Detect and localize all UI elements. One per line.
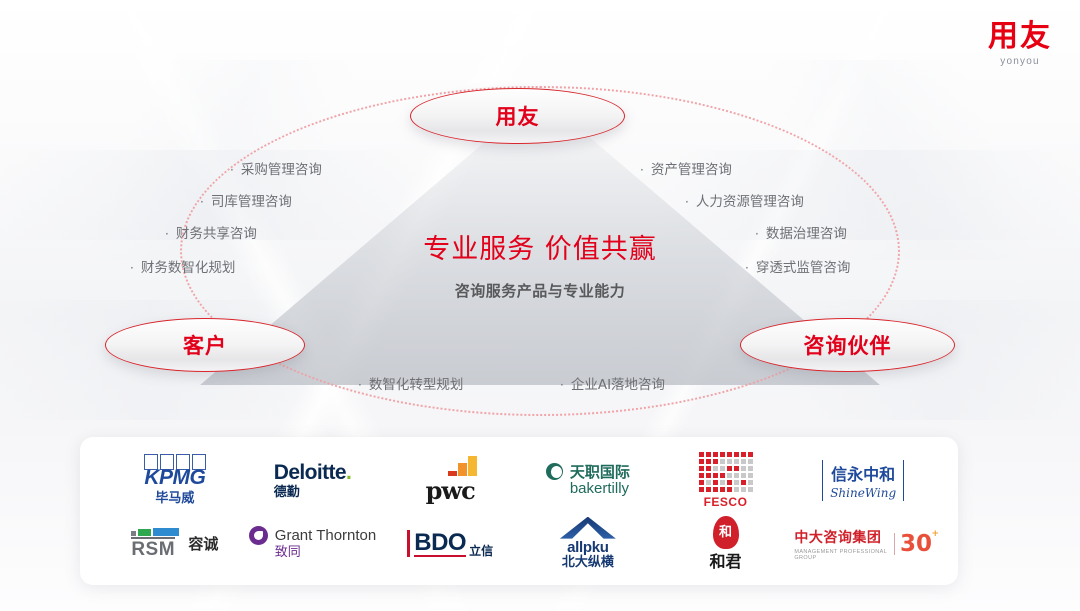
bullet-right-2-label: 人力资源管理咨询 — [696, 194, 804, 210]
bullet-bottom-2-label: 企业AI落地咨询 — [571, 377, 665, 393]
bdo-wordmark: BDO — [414, 530, 466, 557]
kpmg-cn-label: 毕马威 — [155, 492, 194, 506]
node-consulting-partner[interactable]: 咨询伙伴 — [740, 318, 955, 372]
grant-thornton-wordmark: Grant Thornton — [275, 528, 376, 545]
bdo-cn-label: 立信 — [469, 545, 493, 558]
pwc-wordmark: pwc — [426, 478, 475, 504]
hejun-seal-icon: 和 — [713, 516, 739, 549]
bullet-marker-icon: · — [230, 163, 234, 177]
partner-logo-rsm[interactable]: RSM 容诚 — [106, 527, 244, 561]
node-consulting-partner-label: 咨询伙伴 — [804, 330, 892, 360]
shinewing-cn-label: 信永中和 — [830, 461, 896, 485]
allpku-cn-label: 北大纵横 — [562, 556, 614, 570]
fesco-grid-icon — [699, 452, 753, 492]
partner-logo-bdo[interactable]: BDO 立信 — [381, 530, 519, 557]
zhongda-anniversary-badge: 30+ — [900, 531, 932, 557]
partner-logo-kpmg[interactable]: KPMG 毕马威 — [106, 454, 244, 506]
bullet-right-2: ·人力资源管理咨询 — [685, 190, 804, 210]
node-yonyou[interactable]: 用友 — [410, 88, 625, 144]
bullet-marker-icon: · — [358, 378, 362, 392]
center-message: 专业服务 价值共赢 咨询服务产品与专业能力 — [340, 227, 740, 301]
partner-logo-fesco[interactable]: FESCO — [657, 452, 795, 509]
rsm-cn-label: 容诚 — [188, 533, 218, 554]
bullet-marker-icon: · — [200, 195, 204, 209]
grant-thornton-mark-icon — [249, 526, 268, 545]
zhongda-anniversary-number: 30 — [900, 531, 932, 557]
node-customer[interactable]: 客户 — [105, 318, 305, 372]
bullet-marker-icon: · — [685, 195, 689, 209]
bullet-marker-icon: · — [640, 163, 644, 177]
bullet-left-1: ·采购管理咨询 — [230, 158, 322, 178]
partner-logo-deloitte[interactable]: Deloitte. 德勤 — [244, 461, 382, 500]
grant-thornton-cn-label: 致同 — [275, 546, 301, 560]
bullet-left-1-label: 采购管理咨询 — [241, 162, 322, 178]
partner-logo-bakertilly[interactable]: 天职国际 bakertilly — [519, 463, 657, 498]
bullet-left-3-label: 财务共享咨询 — [176, 226, 257, 242]
bullet-bottom-1: ·数智化转型规划 — [358, 373, 463, 393]
partner-row-2: RSM 容诚 Grant Thornton 致同 BDO 立信 — [106, 512, 932, 575]
zhongda-anniversary-sup: + — [931, 529, 939, 539]
bakertilly-wordmark: bakertilly — [570, 481, 629, 498]
bullet-right-1-label: 资产管理咨询 — [651, 162, 732, 178]
partner-logo-shinewing[interactable]: 信永中和 ShineWing — [794, 460, 932, 501]
node-yonyou-label: 用友 — [496, 101, 540, 131]
bakertilly-circle-icon — [546, 463, 563, 480]
node-customer-label: 客户 — [183, 330, 227, 360]
partner-row-1: KPMG 毕马威 Deloitte. 德勤 pwc — [106, 449, 932, 512]
bullet-marker-icon: · — [130, 261, 134, 275]
bullet-marker-icon: · — [560, 378, 564, 392]
bullet-right-3: ·数据治理咨询 — [755, 222, 847, 242]
bullet-right-4: ·穿透式监管咨询 — [745, 256, 850, 276]
partner-logo-grant-thornton[interactable]: Grant Thornton 致同 — [244, 526, 382, 560]
shinewing-wordmark: ShineWing — [830, 486, 896, 500]
partner-logo-allpku[interactable]: allpku 北大纵横 — [519, 517, 657, 571]
zhongda-divider — [894, 533, 895, 555]
kpmg-wordmark: KPMG — [144, 466, 205, 489]
zhongda-cn-label: 中大咨询集团 — [794, 527, 889, 547]
bullet-left-2: ·司库管理咨询 — [200, 190, 292, 210]
bullet-left-4: ·财务数智化规划 — [130, 256, 235, 276]
bullet-bottom-1-label: 数智化转型规划 — [369, 377, 464, 393]
bullet-right-3-label: 数据治理咨询 — [766, 226, 847, 242]
allpku-wordmark: allpku — [567, 540, 609, 557]
deloitte-wordmark: Deloitte. — [274, 461, 351, 484]
rsm-bars-icon — [131, 527, 179, 536]
partnership-diagram: 用友 客户 咨询伙伴 专业服务 价值共赢 咨询服务产品与专业能力 ·采购管理咨询… — [0, 60, 1080, 440]
center-headline: 专业服务 价值共赢 — [340, 227, 740, 266]
center-subline: 咨询服务产品与专业能力 — [340, 280, 740, 301]
partner-logo-pwc[interactable]: pwc — [381, 456, 519, 504]
bullet-marker-icon: · — [165, 227, 169, 241]
partner-logo-hejun[interactable]: 和 和君 — [657, 516, 795, 571]
hejun-cn-label: 和君 — [710, 553, 742, 571]
bullet-right-1: ·资产管理咨询 — [640, 158, 732, 178]
partner-logos-card: KPMG 毕马威 Deloitte. 德勤 pwc — [80, 437, 958, 585]
bullet-left-4-label: 财务数智化规划 — [141, 260, 236, 276]
bullet-marker-icon: · — [755, 227, 759, 241]
bakertilly-cn-label: 天职国际 — [570, 464, 630, 481]
zhongda-en-label: MANAGEMENT PROFESSIONAL GROUP — [794, 549, 889, 561]
allpku-mountain-icon — [560, 517, 616, 539]
bullet-left-2-label: 司库管理咨询 — [211, 194, 292, 210]
deloitte-green-dot-icon: . — [346, 461, 351, 484]
brand-logo-cn: 用友 — [988, 22, 1052, 52]
rsm-wordmark: RSM — [131, 537, 175, 561]
bullet-right-4-label: 穿透式监管咨询 — [756, 260, 851, 276]
fesco-wordmark: FESCO — [704, 496, 748, 509]
bullet-bottom-2: ·企业AI落地咨询 — [560, 373, 665, 393]
bullet-left-3: ·财务共享咨询 — [165, 222, 257, 242]
partner-logo-zhongda[interactable]: 中大咨询集团 MANAGEMENT PROFESSIONAL GROUP 30+ — [794, 527, 932, 561]
bullet-marker-icon: · — [745, 261, 749, 275]
pwc-bars-icon — [448, 456, 477, 476]
deloitte-cn-label: 德勤 — [274, 486, 300, 500]
